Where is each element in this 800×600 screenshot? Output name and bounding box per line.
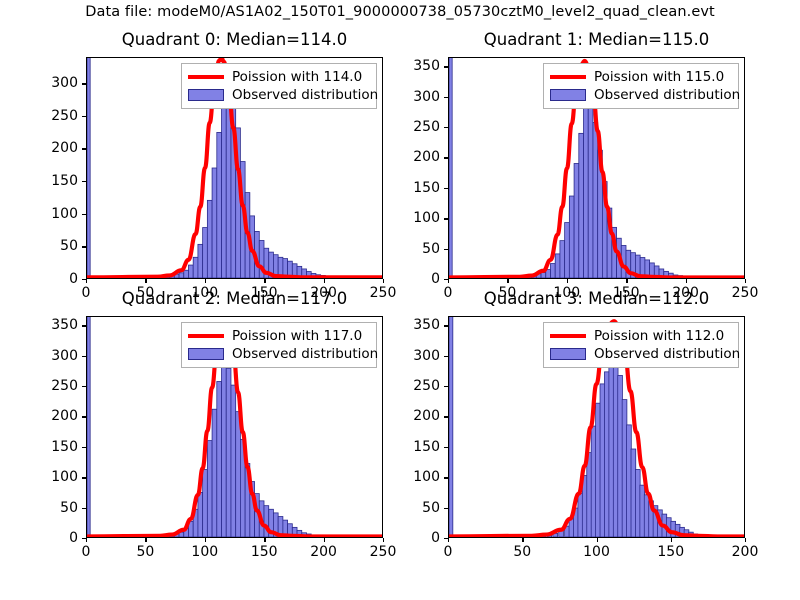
histogram-bar (627, 425, 632, 537)
x-tick-label: 50 (513, 544, 531, 560)
histogram-bar (618, 375, 623, 537)
y-tick (444, 386, 448, 387)
legend-3: Poission with 112.0Observed distribution (543, 322, 739, 368)
y-tick-label: 350 (372, 317, 440, 333)
y-tick (444, 447, 448, 448)
y-tick (444, 416, 448, 417)
x-tick-label: 0 (444, 544, 453, 560)
legend-patch-swatch (549, 347, 587, 361)
histogram-bar (644, 495, 649, 537)
panel-title-3: Quadrant 3: Median=112.0 (408, 289, 785, 308)
y-tick-label: 300 (372, 348, 440, 364)
legend-line-swatch (549, 329, 587, 343)
legend-entry-observed: Observed distribution (549, 345, 732, 363)
y-tick-label: 200 (372, 408, 440, 424)
histogram-bar (600, 384, 605, 537)
y-tick-label: 250 (372, 378, 440, 394)
histogram-bar (569, 519, 574, 537)
figure-canvas: Data file: modeM0/AS1A02_150T01_90000007… (0, 0, 800, 600)
histogram-bar (587, 453, 592, 537)
histogram-bar (631, 449, 636, 537)
x-tick (522, 538, 523, 542)
legend-label-poisson: Poission with 112.0 (594, 328, 724, 344)
legend-entry-poisson: Poission with 112.0 (549, 327, 732, 345)
y-tick-label: 50 (372, 500, 440, 516)
histogram-bar (613, 362, 618, 537)
x-tick (745, 538, 746, 542)
histogram-bar (635, 469, 640, 537)
histogram-bar (591, 426, 596, 537)
panel-quadrant-3: Quadrant 3: Median=112.00501001502002503… (0, 0, 800, 600)
x-tick-label: 100 (583, 544, 610, 560)
histogram-bar (622, 400, 627, 537)
y-tick (444, 508, 448, 509)
y-tick (444, 356, 448, 357)
legend-label-observed: Observed distribution (594, 346, 740, 362)
histogram-bar (578, 494, 583, 537)
x-tick-label: 200 (732, 544, 759, 560)
x-tick (597, 538, 598, 542)
x-tick-label: 150 (657, 544, 684, 560)
x-tick (448, 538, 449, 542)
y-tick-label: 100 (372, 469, 440, 485)
histogram-bar (596, 403, 601, 537)
histogram-bar (609, 363, 614, 537)
histogram-bar (640, 485, 645, 537)
y-tick (444, 477, 448, 478)
y-tick (444, 325, 448, 326)
histogram-bar (449, 317, 453, 537)
y-tick-label: 0 (372, 530, 440, 546)
histogram-bar (604, 372, 609, 537)
y-tick-label: 150 (372, 439, 440, 455)
x-tick (671, 538, 672, 542)
